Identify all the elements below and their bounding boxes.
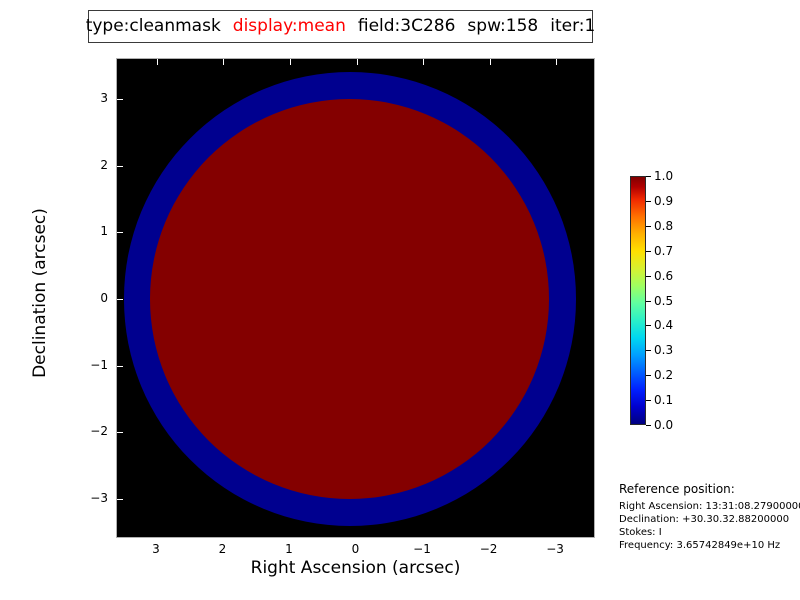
y-axis-title: Declination (arcsec)	[30, 163, 50, 423]
sky-image-plot[interactable]	[116, 58, 595, 538]
y-tick-mark	[117, 99, 123, 100]
colorbar-tick-label: 0.3	[654, 343, 673, 357]
x-tick-label: 2	[219, 542, 227, 556]
y-tick-label: −1	[0, 358, 108, 372]
title-segment-type: type:cleanmask	[80, 18, 227, 35]
colorbar-tick-mark	[646, 276, 651, 277]
colorbar-gradient	[630, 176, 646, 425]
reference-position-line: Right Ascension: 13:31:08.27900000	[619, 500, 799, 513]
y-tick-mark	[117, 366, 123, 367]
colorbar-tick-label: 0.2	[654, 368, 673, 382]
y-tick-mark	[117, 299, 123, 300]
x-tick-label: −2	[480, 542, 498, 556]
plot-title-banner: type:cleanmask display:mean field:3C286 …	[88, 10, 593, 43]
colorbar-tick-label: 0.8	[654, 219, 673, 233]
cleanmask-image	[117, 59, 594, 537]
colorbar-tick-label: 0.4	[654, 318, 673, 332]
reference-position-lines: Right Ascension: 13:31:08.27900000Declin…	[619, 500, 799, 552]
x-tick-label: −1	[413, 542, 431, 556]
x-tick-mark	[556, 59, 557, 65]
title-segment-field: field:3C286	[352, 18, 462, 35]
reference-position-block: Reference position: Right Ascension: 13:…	[619, 482, 799, 552]
x-tick-label: 0	[352, 542, 360, 556]
x-tick-label: 1	[285, 542, 293, 556]
colorbar-tick-mark	[646, 325, 651, 326]
colorbar-tick-mark	[646, 251, 651, 252]
colorbar-tick-mark	[646, 400, 651, 401]
mask-core-region	[150, 99, 549, 499]
y-tick-mark	[117, 232, 123, 233]
colorbar-tick-label: 1.0	[654, 169, 673, 183]
x-tick-mark	[290, 59, 291, 65]
title-segment-spw: spw:158	[461, 18, 544, 35]
colorbar[interactable]	[630, 176, 646, 425]
x-tick-label: 3	[152, 542, 160, 556]
colorbar-tick-label: 0.0	[654, 418, 673, 432]
y-tick-label: 1	[0, 224, 108, 238]
colorbar-tick-mark	[646, 301, 651, 302]
x-tick-mark	[157, 59, 158, 65]
x-tick-mark	[423, 59, 424, 65]
reference-position-line: Declination: +30.30.32.88200000	[619, 513, 799, 526]
y-tick-mark	[117, 166, 123, 167]
colorbar-tick-mark	[646, 350, 651, 351]
colorbar-tick-mark	[646, 375, 651, 376]
x-axis-title: Right Ascension (arcsec)	[116, 558, 595, 578]
colorbar-tick-label: 0.5	[654, 294, 673, 308]
x-tick-mark	[223, 59, 224, 65]
colorbar-tick-mark	[646, 226, 651, 227]
y-tick-label: 2	[0, 158, 108, 172]
reference-position-heading: Reference position:	[619, 482, 799, 496]
colorbar-tick-label: 0.1	[654, 393, 673, 407]
colorbar-tick-label: 0.7	[654, 244, 673, 258]
reference-position-line: Stokes: I	[619, 526, 799, 539]
reference-position-line: Frequency: 3.65742849e+10 Hz	[619, 539, 799, 552]
title-segment-display: display:mean	[227, 18, 352, 35]
y-tick-mark	[117, 499, 123, 500]
x-tick-mark	[490, 59, 491, 65]
y-tick-label: −2	[0, 424, 108, 438]
title-segment-iter: iter:1	[544, 18, 601, 35]
x-tick-mark	[357, 59, 358, 65]
colorbar-tick-label: 0.9	[654, 194, 673, 208]
colorbar-tick-mark	[646, 425, 651, 426]
y-tick-label: −3	[0, 491, 108, 505]
colorbar-tick-mark	[646, 176, 651, 177]
colorbar-tick-label: 0.6	[654, 269, 673, 283]
colorbar-tick-mark	[646, 201, 651, 202]
y-tick-label: 3	[0, 91, 108, 105]
x-tick-label: −3	[546, 542, 564, 556]
y-tick-label: 0	[0, 291, 108, 305]
y-tick-mark	[117, 432, 123, 433]
